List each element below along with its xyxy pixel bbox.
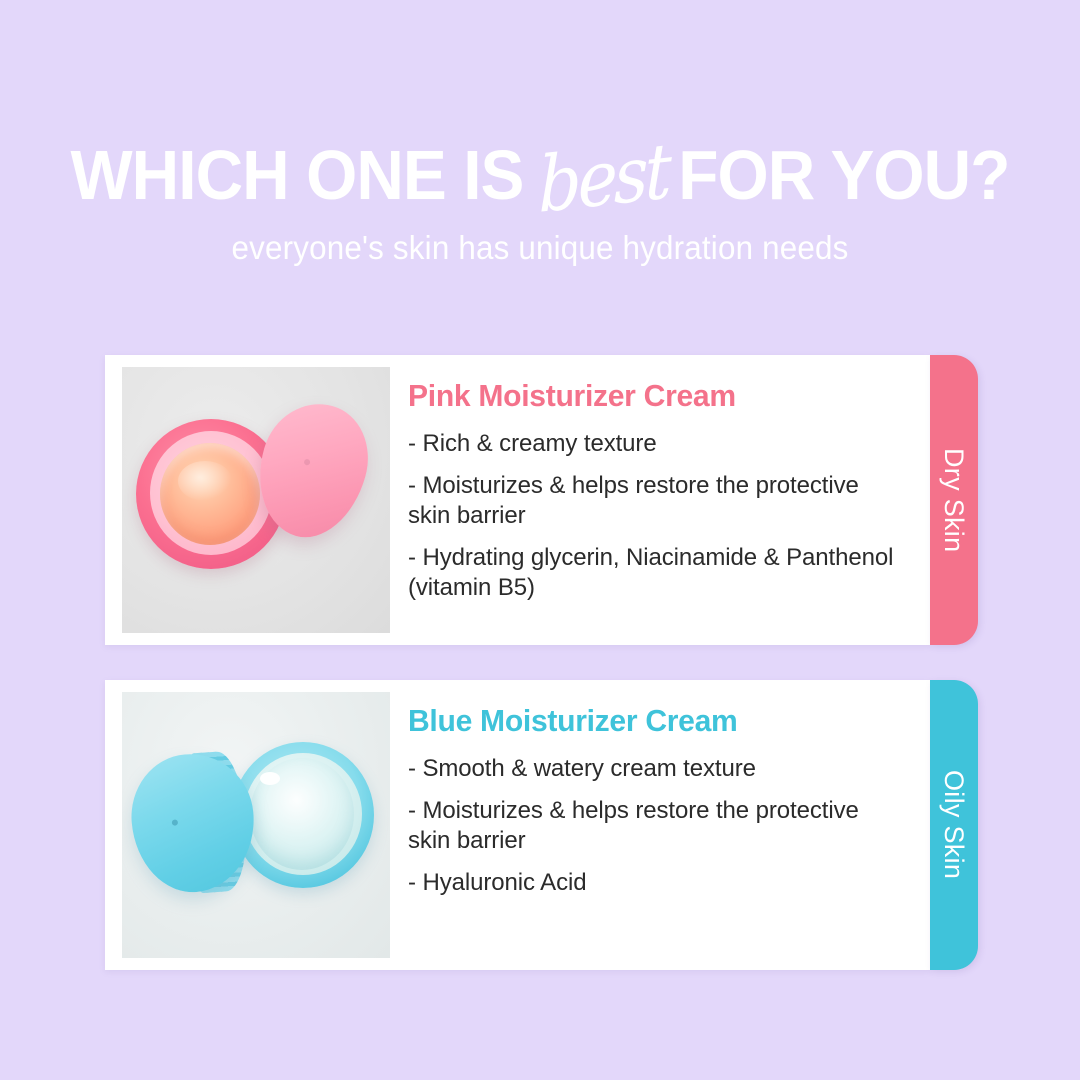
feature-item: - Hydrating glycerin, Niacinamide & Pant… [408, 543, 900, 603]
feature-item: - Rich & creamy texture [408, 429, 900, 459]
header: WHICH ONE ISbestFOR YOU? everyone's skin… [0, 0, 1080, 330]
skin-type-tab-dry[interactable]: Dry Skin [930, 355, 978, 645]
skin-type-tab-oily[interactable]: Oily Skin [930, 680, 978, 970]
skin-type-tab-label: Dry Skin [939, 448, 969, 552]
product-photo-blue [122, 692, 390, 958]
headline-script-word: best [539, 131, 669, 224]
headline-after: FOR YOU? [678, 138, 1009, 212]
product-title-blue: Blue Moisturizer Cream [408, 702, 895, 740]
feature-item: - Moisturizes & helps restore the protec… [408, 796, 900, 856]
page-title: WHICH ONE ISbestFOR YOU? [32, 137, 1047, 212]
product-title-pink: Pink Moisturizer Cream [408, 377, 895, 415]
page-subtitle: everyone's skin has unique hydration nee… [27, 228, 1053, 268]
pink-cream-content-icon [160, 443, 260, 545]
feature-item: - Hyaluronic Acid [408, 868, 900, 898]
skin-type-tab-label: Oily Skin [939, 770, 969, 879]
headline-before: WHICH ONE IS [71, 138, 524, 212]
product-card-list: Dry Skin Pink Moisturizer Cream - Rich &… [105, 355, 978, 1005]
product-photo-pink [122, 367, 390, 633]
blue-gel-content-icon [250, 758, 354, 870]
product-card-blue[interactable]: Oily Skin Blue Moisturizer Cream - Smoot… [105, 680, 978, 970]
card-text-blue: Blue Moisturizer Cream - Smooth & watery… [390, 680, 930, 970]
feature-item: - Smooth & watery cream texture [408, 754, 900, 784]
feature-item: - Moisturizes & helps restore the protec… [408, 471, 900, 531]
product-card-pink[interactable]: Dry Skin Pink Moisturizer Cream - Rich &… [105, 355, 978, 645]
card-text-pink: Pink Moisturizer Cream - Rich & creamy t… [390, 355, 930, 645]
